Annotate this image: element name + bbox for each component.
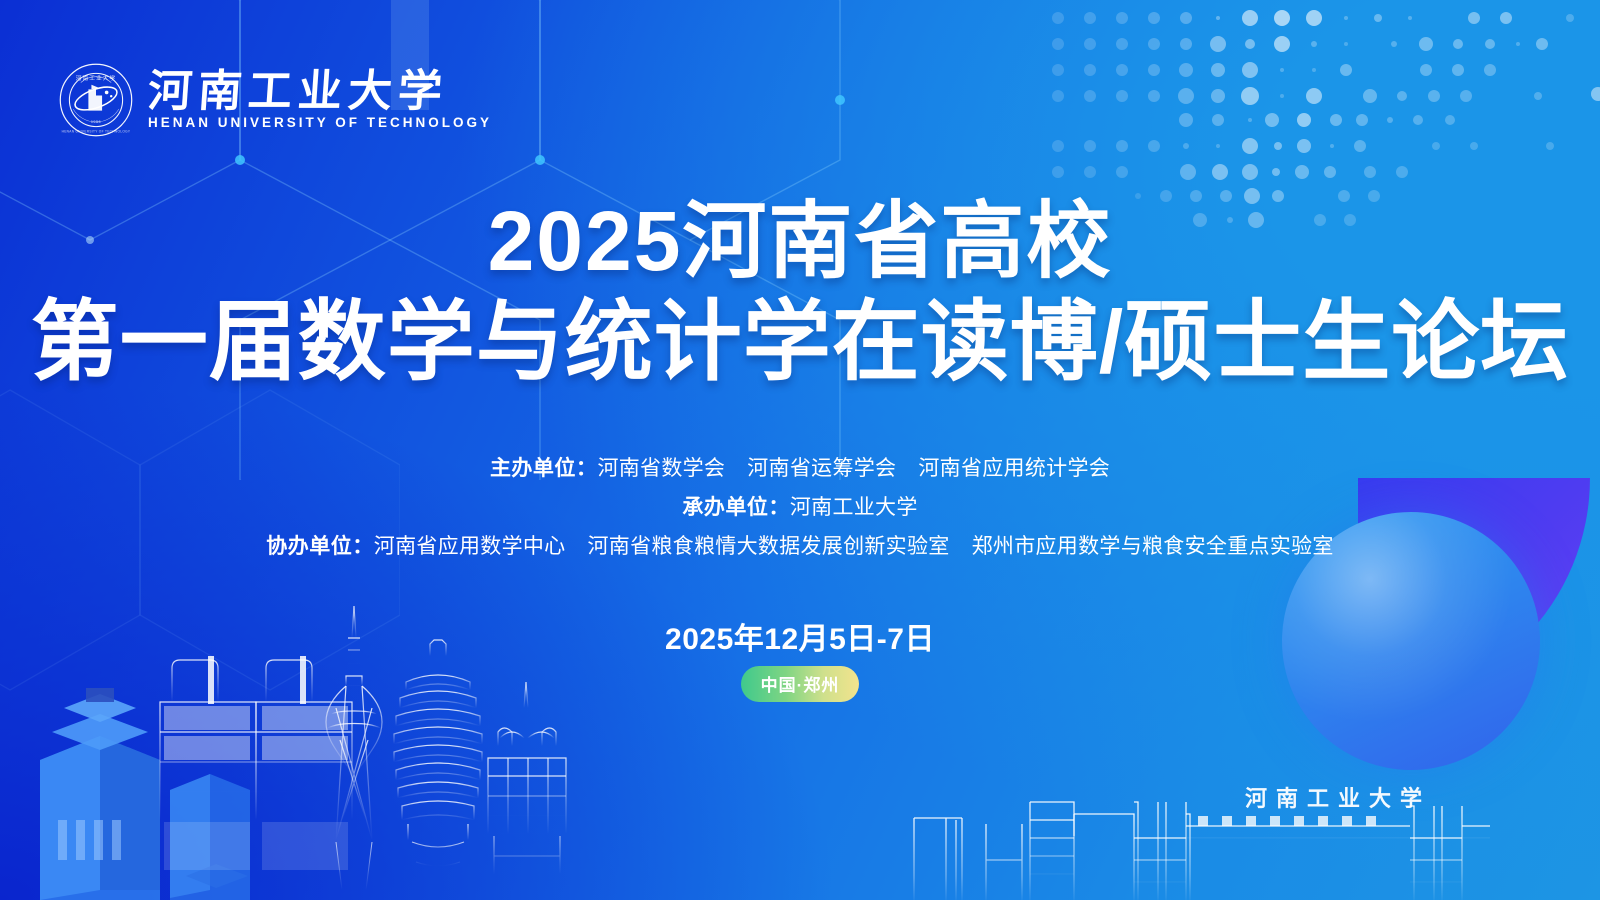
host-item-1: 河南省数学会 (597, 452, 725, 482)
coorganizer-label: 协办单位： (266, 530, 374, 560)
organizer-row-organizer: 承办单位： 河南工业大学 (682, 491, 917, 521)
host-item-3: 河南省应用统计学会 (918, 452, 1110, 482)
host-item-2: 河南省运筹学会 (747, 452, 896, 482)
university-logo: 河南工业大学 1956 HENAN UNIVERSITY OF TECHNOLO… (58, 62, 492, 138)
hexagon-faint-icon (0, 380, 400, 800)
coorganizer-item-3: 郑州市应用数学与粮食安全重点实验室 (972, 530, 1334, 560)
university-emblem-icon: 河南工业大学 1956 HENAN UNIVERSITY OF TECHNOLO… (58, 62, 134, 138)
logo-english-name: HENAN UNIVERSITY OF TECHNOLOGY (148, 116, 492, 130)
logo-text-block: 河南工业大学 HENAN UNIVERSITY OF TECHNOLOGY (148, 70, 492, 130)
organizer-row-host: 主办单位： 河南省数学会 河南省运筹学会 河南省应用统计学会 (490, 452, 1110, 482)
coorganizer-item-2: 河南省粮食粮情大数据发展创新实验室 (587, 530, 949, 560)
organizer-label: 承办单位： (682, 491, 790, 521)
organizer-item-1: 河南工业大学 (790, 491, 918, 521)
logo-chinese-name: 河南工业大学 (146, 70, 493, 114)
organizer-block: 主办单位： 河南省数学会 河南省运筹学会 河南省应用统计学会 承办单位： 河南工… (0, 452, 1600, 560)
svg-text:HENAN UNIVERSITY OF TECHNOLOGY: HENAN UNIVERSITY OF TECHNOLOGY (62, 130, 131, 134)
organizer-row-coorganizer: 协办单位： 河南省应用数学中心 河南省粮食粮情大数据发展创新实验室 郑州市应用数… (266, 530, 1333, 560)
gate-caption: 河南工业大学 (1245, 786, 1431, 811)
coorganizer-item-1: 河南省应用数学中心 (374, 530, 566, 560)
event-datetime-block: 2025年12月5日-7日 中国·郑州 (0, 614, 1600, 702)
host-label: 主办单位： (490, 452, 598, 482)
poster-canvas: 河南工业大学 河南工业大学 1956 HENAN UNIVERSITY OF T… (0, 0, 1600, 900)
svg-text:河南工业大学: 河南工业大学 (76, 74, 117, 82)
event-date: 2025年12月5日-7日 (665, 614, 935, 658)
page-title: 2025河南省高校 第一届数学与统计学在读博/硕士生论坛 (0, 196, 1600, 391)
event-location-badge: 中国·郑州 (741, 666, 860, 702)
title-line-1: 2025河南省高校 (0, 196, 1600, 287)
title-line-2: 第一届数学与统计学在读博/硕士生论坛 (0, 293, 1600, 392)
university-gate-icon: 河南工业大学 (890, 750, 1490, 900)
